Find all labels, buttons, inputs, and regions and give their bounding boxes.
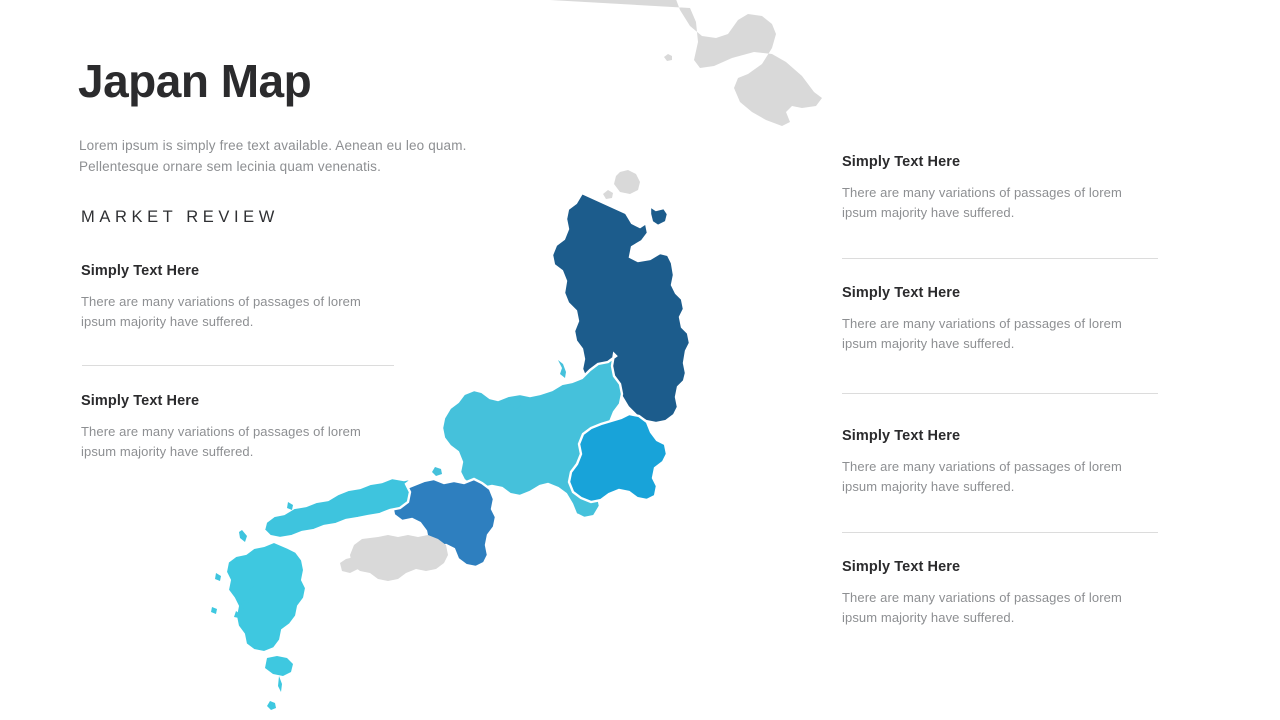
right-info-title-3: Simply Text Here (842, 429, 1132, 445)
right-info-title-2: Simply Text Here (842, 286, 1132, 302)
right-info-body-4: There are many variations of passages of… (842, 588, 1132, 629)
left-info-title-2: Simply Text Here (81, 394, 371, 410)
right-info-title-4: Simply Text Here (842, 560, 1132, 576)
right-info-body-1: There are many variations of passages of… (842, 183, 1132, 224)
left-info-block-1: Simply Text Here There are many variatio… (81, 264, 371, 333)
left-info-body-1: There are many variations of passages of… (81, 292, 371, 333)
map-region-kyushu[interactable] (211, 542, 306, 710)
left-info-body-2: There are many variations of passages of… (81, 422, 371, 463)
right-info-block-4: Simply Text Here There are many variatio… (842, 560, 1132, 629)
section-label-market-review: MARKET REVIEW (81, 208, 279, 227)
right-info-title-1: Simply Text Here (842, 155, 1132, 171)
right-divider-2 (842, 393, 1158, 394)
right-info-block-1: Simply Text Here There are many variatio… (842, 155, 1132, 224)
left-info-title-1: Simply Text Here (81, 264, 371, 280)
left-info-block-2: Simply Text Here There are many variatio… (81, 394, 371, 463)
map-region-shikoku[interactable] (340, 535, 448, 581)
page-title: Japan Map (78, 57, 311, 107)
right-info-block-3: Simply Text Here There are many variatio… (842, 429, 1132, 498)
map-region-hokkaido[interactable] (480, 0, 822, 199)
right-divider-1 (842, 258, 1158, 259)
right-info-block-2: Simply Text Here There are many variatio… (842, 286, 1132, 355)
page-subtitle: Lorem ipsum is simply free text availabl… (79, 135, 519, 177)
left-divider-1 (82, 365, 394, 366)
right-divider-3 (842, 532, 1158, 533)
right-info-body-3: There are many variations of passages of… (842, 457, 1132, 498)
right-info-body-2: There are many variations of passages of… (842, 314, 1132, 355)
